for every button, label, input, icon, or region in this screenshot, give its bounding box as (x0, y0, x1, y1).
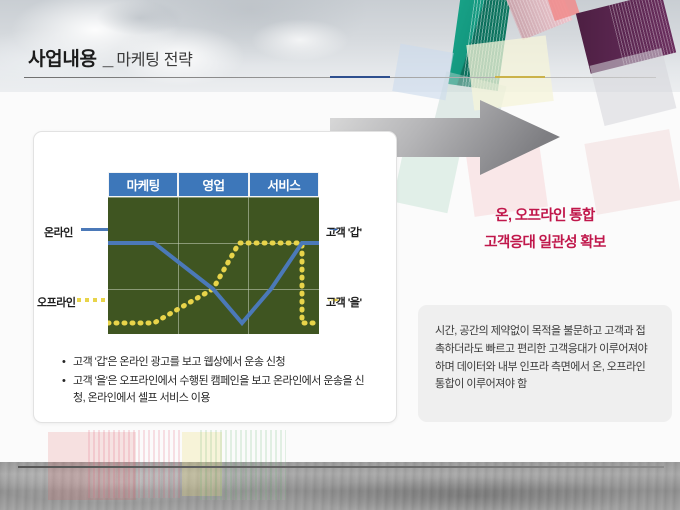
page-title-separator: _ (97, 49, 117, 71)
chart-column-headers: 마케팅 영업 서비스 (108, 172, 319, 197)
header-accent-blue (330, 76, 390, 78)
chart-label-online: 온라인 (44, 224, 73, 240)
connector-arrow-gap (319, 228, 349, 231)
list-item: 고객 '을'은 오프라인에서 수행된 캠페인을 보고 온라인에서 운송을 신청,… (62, 373, 372, 407)
chart-series-lines (108, 197, 319, 334)
decor-block-green (200, 430, 286, 500)
slide-canvas: 사업내용 _ 마케팅 전략 온라인 오프라인 고객 '갑' 고객 '을' 마케팅… (0, 0, 680, 510)
chart-plot-area (108, 197, 319, 334)
chart-column-header-marketing: 마케팅 (108, 172, 178, 197)
chart-label-offline: 오프라인 (37, 294, 75, 310)
key-message-headline: 온, 오프라인 통합 고객응대 일관성 확보 (420, 203, 670, 257)
decor-block-pinkstripes (88, 430, 180, 498)
page-title-sub: 마케팅 전략 (116, 46, 192, 70)
slide-header: 사업내용 _ 마케팅 전략 (0, 42, 680, 88)
chart-column-header-sales: 영업 (178, 172, 248, 197)
decor-baseline-rule (18, 466, 664, 468)
key-message-line-2: 고객응대 일관성 확보 (420, 230, 670, 257)
diagram-card: 온라인 오프라인 고객 '갑' 고객 '을' 마케팅 영업 서비스 (33, 131, 397, 423)
note-panel: 시간, 공간의 제약없이 목적을 불문하고 고객과 접촉하더라도 빠르고 편리한… (418, 305, 672, 422)
key-message-line-1: 온, 오프라인 통합 (420, 203, 670, 230)
connector-online-line (81, 228, 108, 231)
note-panel-text: 시간, 공간의 제약없이 목적을 불문하고 고객과 접촉하더라도 빠르고 편리한… (435, 323, 651, 394)
connector-arrow-eul (319, 298, 349, 302)
page-title: 사업내용 _ 마케팅 전략 (28, 44, 193, 71)
page-title-main: 사업내용 (28, 44, 97, 71)
chart-column-header-service: 서비스 (249, 172, 319, 197)
bullet-list: 고객 '갑'은 온라인 광고를 보고 웹상에서 운송 신청 고객 '을'은 오프… (62, 354, 372, 409)
chart-label-customer-eul: 고객 '을' (326, 294, 362, 310)
chart-label-customer-gap: 고객 '갑' (326, 224, 362, 240)
list-item: 고객 '갑'은 온라인 광고를 보고 웹상에서 운송 신청 (62, 354, 372, 371)
header-accent-gold (495, 76, 545, 78)
strategy-chart: 마케팅 영업 서비스 (108, 172, 319, 334)
series-line-eul (108, 243, 319, 323)
connector-offline-dots (77, 298, 108, 302)
series-line-gap (108, 243, 319, 323)
